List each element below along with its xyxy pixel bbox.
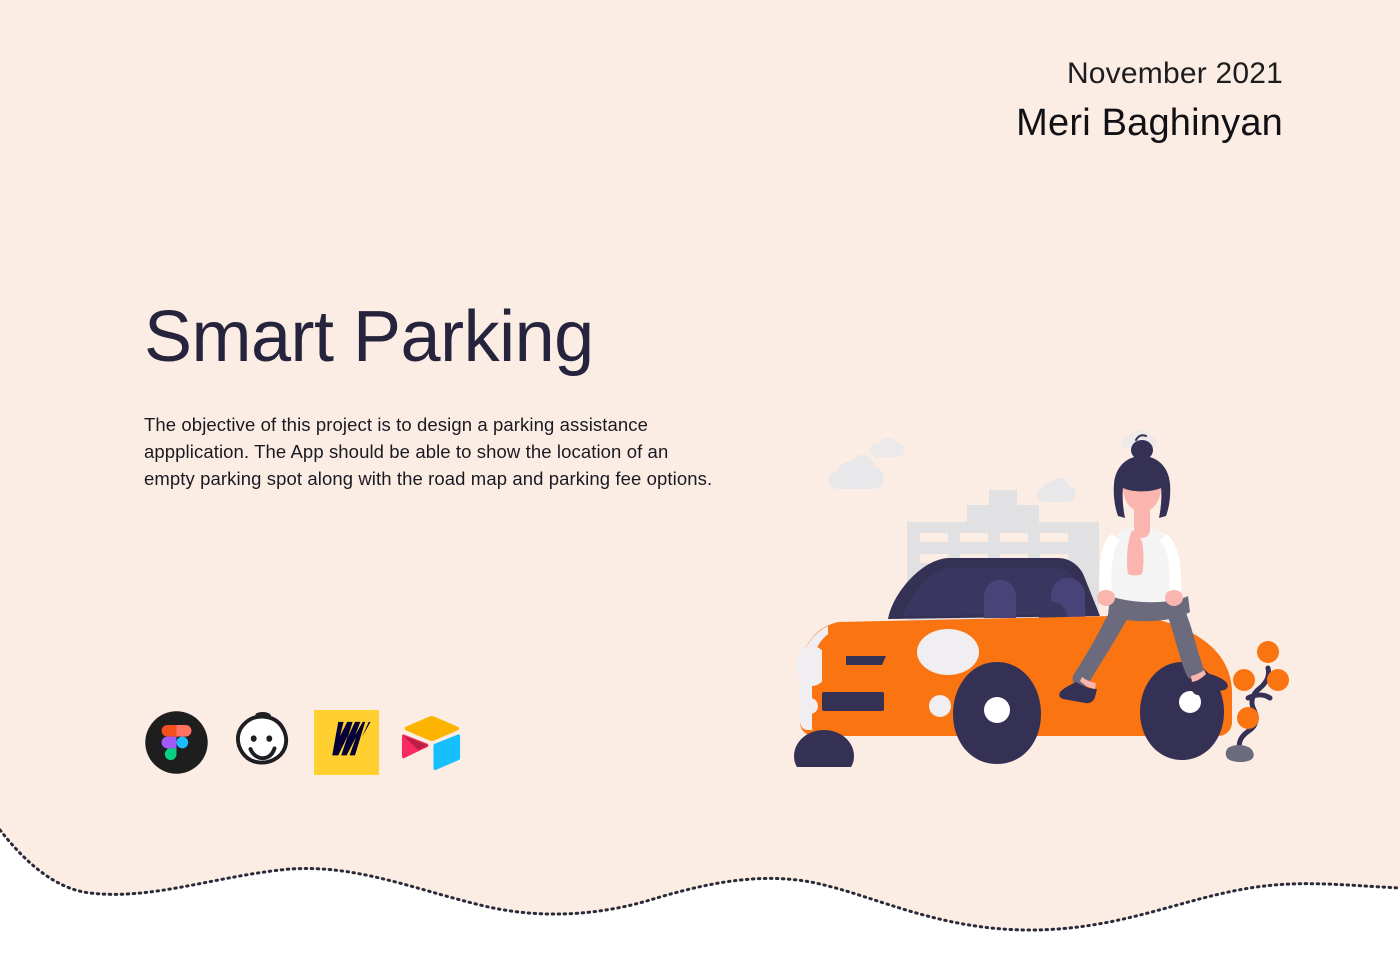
tool-logo-row: [144, 710, 464, 775]
airtable-logo-icon[interactable]: [399, 710, 464, 775]
plant-decoration: [1226, 641, 1289, 762]
slide-date: November 2021: [1016, 55, 1283, 93]
figma-logo-icon[interactable]: [144, 710, 209, 775]
slide-author-name: Meri Baghinyan: [1016, 99, 1283, 148]
page-title: Smart Parking: [144, 298, 594, 377]
miro-logo-icon[interactable]: [314, 710, 379, 775]
slide-header: November 2021 Meri Baghinyan: [1016, 55, 1283, 148]
presentation-slide: November 2021 Meri Baghinyan Smart Parki…: [0, 0, 1400, 955]
project-description: The objective of this project is to desi…: [144, 411, 716, 492]
excalidraw-smiley-icon[interactable]: [229, 710, 294, 775]
car-illustration: [770, 430, 1300, 790]
